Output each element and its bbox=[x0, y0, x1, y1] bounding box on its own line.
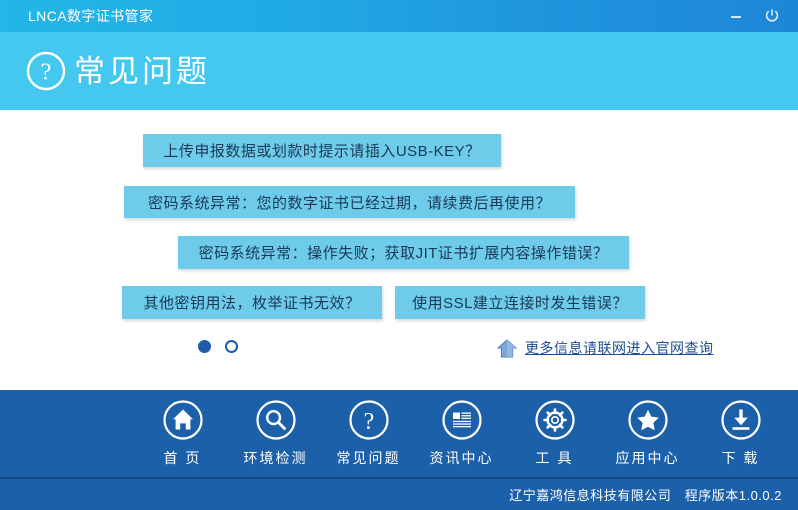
nav-label: 环境检测 bbox=[244, 448, 308, 468]
svg-text:?: ? bbox=[41, 60, 52, 86]
nav-label: 首 页 bbox=[164, 448, 202, 468]
faq-item[interactable]: 密码系统异常：您的数字证书已经过期，请续费后再使用？ bbox=[124, 186, 575, 218]
search-icon bbox=[254, 398, 298, 442]
home-icon bbox=[161, 398, 205, 442]
pager-dot-1[interactable] bbox=[198, 340, 211, 353]
bottom-nav: 首 页 环境检测 ? 常见问题 bbox=[0, 390, 798, 478]
faq-item[interactable]: 上传申报数据或划款时提示请插入USB-KEY？ bbox=[143, 134, 501, 167]
nav-item-download[interactable]: 下 载 bbox=[694, 390, 787, 468]
minimize-icon[interactable] bbox=[726, 6, 746, 26]
nav-label: 常见问题 bbox=[337, 448, 401, 468]
faq-item[interactable]: 密码系统异常：操作失败；获取JIT证书扩展内容操作错误？ bbox=[178, 236, 629, 269]
window-controls bbox=[726, 6, 782, 26]
nav-label: 资讯中心 bbox=[430, 448, 494, 468]
official-site-link[interactable]: 更多信息请联网进入官网查询 bbox=[497, 338, 714, 358]
app-title: LNCA数字证书管家 bbox=[28, 6, 153, 26]
question-icon: ? bbox=[347, 398, 391, 442]
nav-item-env-check[interactable]: 环境检测 bbox=[229, 390, 322, 468]
power-icon[interactable] bbox=[762, 6, 782, 26]
nav-item-tools[interactable]: 工 具 bbox=[508, 390, 601, 468]
footer-bar: 辽宁嘉鸿信息科技有限公司 程序版本1.0.0.2 bbox=[0, 479, 798, 510]
page-header: ? 常见问题 bbox=[0, 32, 798, 110]
star-icon bbox=[626, 398, 670, 442]
faq-item[interactable]: 其他密钥用法，枚举证书无效？ bbox=[122, 286, 382, 319]
house-icon bbox=[497, 339, 517, 358]
gear-icon bbox=[533, 398, 577, 442]
nav-item-faq[interactable]: ? 常见问题 bbox=[322, 390, 415, 468]
title-bar: LNCA数字证书管家 bbox=[0, 0, 798, 32]
footer-text: 辽宁嘉鸿信息科技有限公司 程序版本1.0.0.2 bbox=[509, 485, 782, 504]
nav-label: 应用中心 bbox=[616, 448, 680, 468]
download-icon bbox=[719, 398, 763, 442]
nav-label: 工 具 bbox=[536, 448, 574, 468]
nav-item-app-center[interactable]: 应用中心 bbox=[601, 390, 694, 468]
official-site-link-label: 更多信息请联网进入官网查询 bbox=[525, 338, 714, 358]
nav-label: 下 载 bbox=[722, 448, 760, 468]
news-icon bbox=[440, 398, 484, 442]
page-title: 常见问题 bbox=[74, 56, 210, 87]
nav-item-home[interactable]: 首 页 bbox=[136, 390, 229, 468]
question-circle-icon: ? bbox=[26, 51, 66, 91]
nav-item-news[interactable]: 资讯中心 bbox=[415, 390, 508, 468]
svg-text:?: ? bbox=[363, 409, 374, 435]
faq-item[interactable]: 使用SSL建立连接时发生错误？ bbox=[395, 286, 645, 319]
pagination-dots bbox=[198, 340, 238, 353]
pager-dot-2[interactable] bbox=[225, 340, 238, 353]
